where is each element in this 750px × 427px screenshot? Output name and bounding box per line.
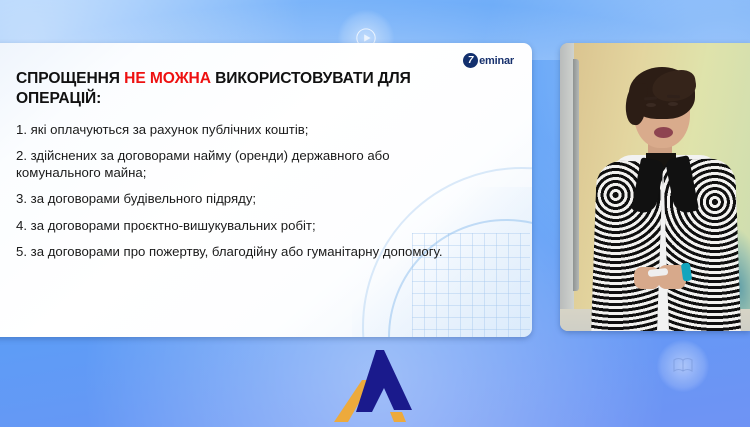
list-item: 1. які оплачуються за рахунок публічних … [16, 121, 474, 138]
presentation-slide: 7 eminar СПРОЩЕННЯ НЕ МОЖНА ВИКОРИСТОВУВ… [0, 43, 532, 337]
logo-badge-seven: 7 [463, 53, 478, 68]
seminar-logo: 7 eminar [463, 53, 514, 68]
studio-wall-edge [573, 59, 579, 291]
list-item: 2. здійснених за договорами найму (оренд… [16, 147, 474, 181]
presenter-eye-right [668, 102, 678, 106]
list-item: 3. за договорами будівельного підряду; [16, 190, 474, 207]
book-circle-watermark [657, 340, 709, 392]
slide-title-before: СПРОЩЕННЯ [16, 70, 124, 87]
list-item: 5. за договорами про пожертву, благодійн… [16, 243, 474, 260]
slide-title: СПРОЩЕННЯ НЕ МОЖНА ВИКОРИСТОВУВАТИ ДЛЯ О… [16, 69, 474, 109]
logo-gold-foot [390, 412, 406, 422]
presenter-video-panel[interactable] [560, 43, 750, 331]
list-item: 4. за договорами проєктно-вишукувальних … [16, 217, 474, 234]
presenter-mouth [654, 127, 673, 138]
slide-content: СПРОЩЕННЯ НЕ МОЖНА ВИКОРИСТОВУВАТИ ДЛЯ О… [16, 69, 474, 269]
slide-title-highlight: НЕ МОЖНА [124, 70, 211, 87]
logo-wordmark: eminar [479, 55, 514, 67]
letter-a-logo [332, 350, 418, 422]
presenter-eye-left [646, 103, 656, 107]
slide-bullet-list: 1. які оплачуються за рахунок публічних … [16, 121, 474, 260]
studio-wall-left [560, 43, 574, 331]
